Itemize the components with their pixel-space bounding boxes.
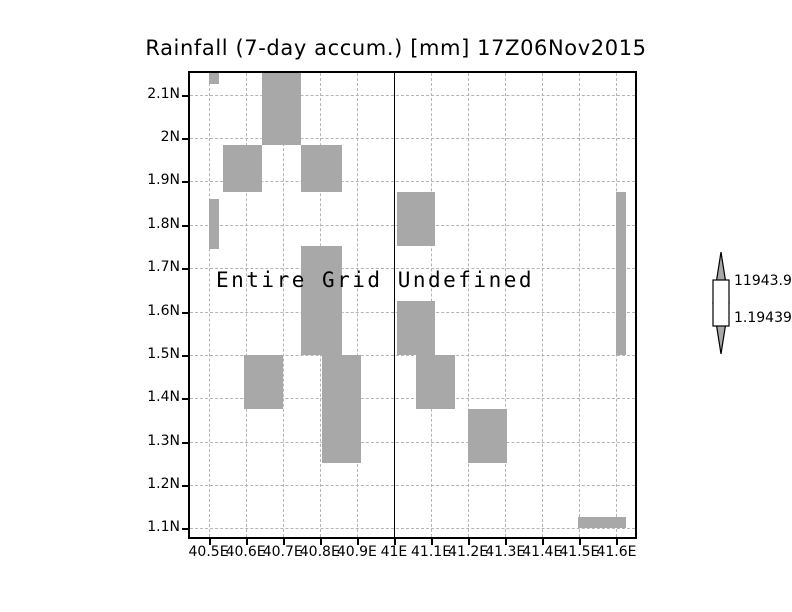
- y-axis-tick: [182, 398, 188, 400]
- undefined-annotation-layer: Entire Grid Undefined: [190, 73, 635, 537]
- y-axis-label: 1.9N: [130, 172, 180, 188]
- y-axis-tick: [182, 95, 188, 97]
- y-axis-label: 1.4N: [130, 389, 180, 405]
- y-axis-tick: [182, 355, 188, 357]
- y-axis-label: 2.1N: [130, 86, 180, 102]
- y-axis-tick: [182, 181, 188, 183]
- x-axis-label: 41.6E: [593, 544, 639, 560]
- colorbar-shape: [704, 252, 738, 354]
- y-axis-label: 1.3N: [130, 433, 180, 449]
- y-axis-tick: [182, 312, 188, 314]
- y-axis-tick: [182, 442, 188, 444]
- y-axis-tick: [182, 268, 188, 270]
- y-axis-label: 1.8N: [130, 216, 180, 232]
- y-axis-label: 1.7N: [130, 259, 180, 275]
- y-axis-label: 1.2N: [130, 476, 180, 492]
- y-axis-tick: [182, 138, 188, 140]
- y-axis-tick: [182, 485, 188, 487]
- y-axis-label: 1.1N: [130, 519, 180, 535]
- colorbar-mid-box: [713, 280, 729, 326]
- entire-grid-undefined-label: Entire Grid Undefined: [216, 268, 534, 292]
- y-axis-tick: [182, 225, 188, 227]
- colorbar-lower-label: 1.19439: [734, 310, 792, 326]
- y-axis-label: 2N: [130, 129, 180, 145]
- plot-area: Entire Grid Undefined: [188, 71, 637, 539]
- chart-title: Rainfall (7-day accum.) [mm] 17Z06Nov201…: [0, 36, 792, 60]
- y-axis-label: 1.6N: [130, 303, 180, 319]
- colorbar-upper-label: 11943.9: [734, 273, 792, 289]
- y-axis-label: 1.5N: [130, 346, 180, 362]
- colorbar: 11943.9 1.19439: [704, 252, 738, 354]
- y-axis-tick: [182, 528, 188, 530]
